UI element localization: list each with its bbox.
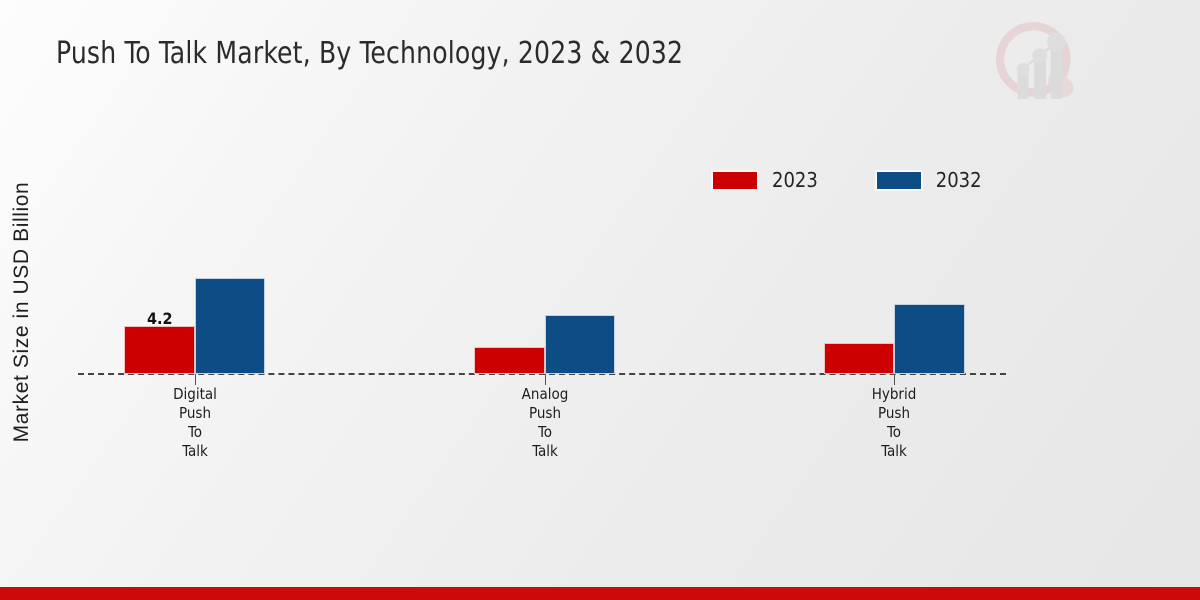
category-label-analog: Analog Push To Talk (450, 385, 640, 461)
bar-2023-analog[interactable] (474, 347, 545, 374)
axis-tick-analog (545, 374, 546, 385)
bar-2032-hybrid[interactable] (894, 304, 965, 374)
axis-tick-digital (195, 374, 196, 385)
category-line: Push (100, 404, 290, 423)
category-line: Hybrid (799, 385, 989, 404)
bar-2032-digital[interactable] (195, 278, 265, 374)
category-line: Talk (799, 442, 989, 461)
value-label-2023-digital: 4.2 (147, 309, 173, 328)
category-line: Digital (100, 385, 290, 404)
category-line: Talk (450, 442, 640, 461)
chart-canvas: Push To Talk Market, By Technology, 2023… (0, 0, 1200, 600)
category-line: To (450, 423, 640, 442)
footer-accent-strip (0, 587, 1200, 600)
bar-2023-hybrid[interactable] (824, 343, 894, 374)
category-line: To (100, 423, 290, 442)
category-line: Analog (450, 385, 640, 404)
magnifying-glass-bar-chart-logo (990, 18, 1082, 110)
category-line: To (799, 423, 989, 442)
category-label-hybrid: Hybrid Push To Talk (799, 385, 989, 461)
category-label-digital: Digital Push To Talk (100, 385, 290, 461)
axis-tick-hybrid (894, 374, 895, 385)
bar-2023-digital[interactable] (124, 326, 195, 374)
bar-2032-analog[interactable] (545, 315, 615, 374)
category-line: Talk (100, 442, 290, 461)
category-line: Push (450, 404, 640, 423)
category-line: Push (799, 404, 989, 423)
